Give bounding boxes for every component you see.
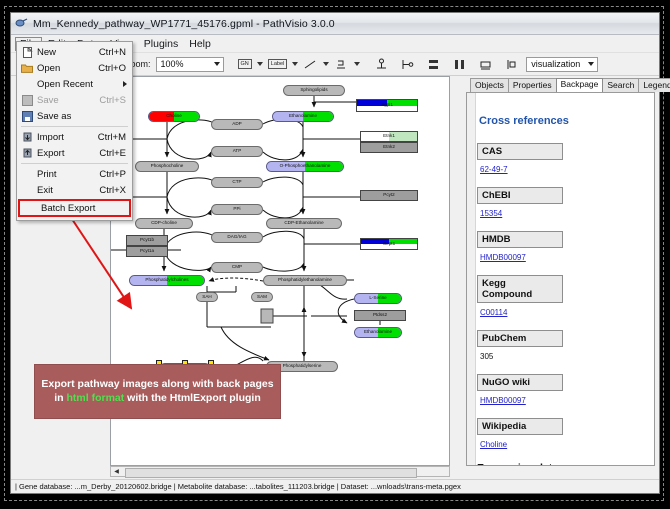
menu-item-accelerator: Ctrl+X xyxy=(99,185,132,196)
backpage-scroll-gutter[interactable] xyxy=(467,93,476,465)
xref-value[interactable]: HMDB00097 xyxy=(480,253,650,262)
node-label: Pcyt2 xyxy=(383,193,395,198)
chevron-down-icon[interactable] xyxy=(354,62,360,66)
file-menu-item-import[interactable]: ImportCtrl+M xyxy=(17,129,132,145)
gene-node-pcyt1b[interactable]: Pcyt1b xyxy=(126,235,168,246)
node-label: ADP xyxy=(232,122,241,127)
xref-value: 305 xyxy=(480,352,650,361)
menu-item-label: New xyxy=(37,47,99,58)
node-label: SAH xyxy=(202,295,211,300)
menu-help[interactable]: Help xyxy=(184,37,216,51)
node-label: L-Serine xyxy=(369,296,386,301)
import-icon xyxy=(17,132,37,143)
xref-database-name: Wikipedia xyxy=(477,418,563,435)
chevron-down-icon[interactable] xyxy=(323,62,329,66)
metabolite-node-adp[interactable]: ADP xyxy=(211,119,263,130)
backpage-panel[interactable]: Cross references CAS62-49-7ChEBI15354HMD… xyxy=(466,92,655,466)
menu-item-label: Print xyxy=(37,169,99,180)
menu-plugins[interactable]: Plugins xyxy=(139,37,183,51)
xref-database-name: HMDB xyxy=(477,231,563,248)
chevron-down-icon xyxy=(214,62,220,66)
file-menu-item-save-as[interactable]: Save as xyxy=(17,108,132,124)
metabolite-node-choline[interactable]: Choline xyxy=(148,111,200,122)
distribute-horizontal-icon[interactable] xyxy=(452,57,467,72)
tab-objects[interactable]: Objects xyxy=(470,78,509,92)
xref-link[interactable]: C00114 xyxy=(480,308,507,317)
menu-item-label: Open Recent xyxy=(37,79,126,90)
menu-item-accelerator: Ctrl+N xyxy=(99,47,132,58)
menu-item-label: Exit xyxy=(37,185,99,196)
node-label: Ethanolamine xyxy=(364,330,392,335)
pathvisio-window: Mm_Kennedy_pathway_WP1771_45176.gpml - P… xyxy=(10,12,660,494)
title-bar: Mm_Kennedy_pathway_WP1771_45176.gpml - P… xyxy=(11,13,659,35)
chevron-down-icon xyxy=(588,62,594,66)
window-title: Mm_Kennedy_pathway_WP1771_45176.gpml - P… xyxy=(33,18,335,30)
menu-separator xyxy=(21,163,128,164)
metabolite-node-sah[interactable]: SAH xyxy=(196,292,218,302)
submenu-arrow-icon xyxy=(123,81,127,87)
metabolite-node-sphingolipids[interactable]: Sphingolipids xyxy=(283,85,345,96)
callout-highlight: html format xyxy=(67,392,125,404)
node-label: Choline xyxy=(166,114,182,119)
expression-data-title: Expression data xyxy=(477,462,650,466)
tab-backpage[interactable]: Backpage xyxy=(556,78,604,92)
node-label: Phosphatidylserine xyxy=(283,364,322,369)
node-label: Ethanolamine xyxy=(289,114,317,119)
file-menu-dropdown[interactable]: NewCtrl+NOpenCtrl+OOpen RecentSaveCtrl+S… xyxy=(16,41,133,221)
gene-node-pcyt1a[interactable]: Pcyt1a xyxy=(126,246,168,257)
menu-item-accelerator: Ctrl+E xyxy=(99,148,132,159)
chevron-down-icon[interactable] xyxy=(257,62,263,66)
cross-reference-list: CAS62-49-7ChEBI15354HMDBHMDB00097Kegg Co… xyxy=(477,143,650,449)
status-text: | Gene database: ...m_Derby_20120602.bri… xyxy=(15,482,461,491)
visualization-combo[interactable]: visualization xyxy=(526,57,598,72)
tab-properties[interactable]: Properties xyxy=(508,78,557,92)
screenshot-root: Mm_Kennedy_pathway_WP1771_45176.gpml - P… xyxy=(0,0,670,509)
file-menu-item-open-recent[interactable]: Open Recent xyxy=(17,76,132,92)
metabolite-node-ctp[interactable]: CTP xyxy=(211,177,263,188)
xref-database-name: CAS xyxy=(477,143,563,160)
new-document-icon xyxy=(17,47,37,58)
file-menu-item-batch-export[interactable]: Batch Export xyxy=(18,199,131,217)
hscroll-thumb[interactable] xyxy=(125,468,417,478)
pathvisio-app-icon xyxy=(15,17,28,30)
status-bar: | Gene database: ...m_Derby_20120602.bri… xyxy=(11,479,659,493)
distribute-vertical-icon[interactable] xyxy=(426,57,441,72)
file-menu-item-export[interactable]: ExportCtrl+E xyxy=(17,145,132,161)
node-label: PPi xyxy=(233,207,240,212)
canvas-hscrollbar[interactable]: ◀ xyxy=(110,466,450,477)
node-label: CDP-Ethanolamine xyxy=(284,221,323,226)
menu-separator xyxy=(21,126,128,127)
chevron-down-icon[interactable] xyxy=(292,62,298,66)
gene-node-sgpl1[interactable]: Sgpl1 xyxy=(356,99,418,112)
tab-legend[interactable]: Legend xyxy=(638,78,670,92)
file-menu-item-print[interactable]: PrintCtrl+P xyxy=(17,166,132,182)
node-label: O-Phosphoethanolamine xyxy=(280,164,331,169)
node-label: Etnk1 xyxy=(383,134,395,139)
xref-link[interactable]: 15354 xyxy=(480,209,502,218)
node-label: ATP xyxy=(233,149,242,154)
gene-node-cept1[interactable]: Cept1 xyxy=(360,238,418,250)
visualization-value: visualization xyxy=(531,59,580,69)
metabolite-node-ethanolamine[interactable]: Ethanolamine xyxy=(354,327,402,338)
metabolite-node-atp[interactable]: ATP xyxy=(211,146,263,157)
gene-node-pcyt2[interactable]: Pcyt2 xyxy=(360,190,418,201)
gene-node-ptdss2[interactable]: Ptdss2 xyxy=(354,310,406,321)
xref-database-name: NuGO wiki xyxy=(477,374,563,391)
menu-item-label: Import xyxy=(37,132,98,143)
menu-item-accelerator: Ctrl+M xyxy=(98,132,132,143)
menu-item-accelerator: Ctrl+S xyxy=(99,95,132,106)
order-icon[interactable] xyxy=(504,57,519,72)
xref-value[interactable]: HMDB00097 xyxy=(480,396,650,405)
node-label: Phosphatidylcholines xyxy=(145,278,188,283)
metabolite-node-o-phosphoethanolamine[interactable]: O-Phosphoethanolamine xyxy=(266,161,344,172)
menu-item-label: Save as xyxy=(37,111,126,122)
node-label: CDP-choline xyxy=(151,221,177,226)
file-menu-item-new[interactable]: NewCtrl+N xyxy=(17,44,132,60)
side-panel-tabs: Objects Properties Backpage Search Legen… xyxy=(456,76,659,92)
interaction-icon[interactable] xyxy=(334,57,349,72)
line-icon[interactable] xyxy=(303,57,318,72)
save-disk-icon xyxy=(17,95,37,106)
gene-node-etnk1[interactable]: Etnk1 xyxy=(360,131,418,142)
xref-value[interactable]: Choline xyxy=(480,440,650,449)
callout-text: Export pathway images along with back pa… xyxy=(41,378,274,404)
menu-item-label: Open xyxy=(37,63,98,74)
align-left-icon[interactable] xyxy=(400,57,415,72)
group-icon[interactable] xyxy=(478,57,493,72)
metabolite-node-cmp[interactable]: CMP xyxy=(211,262,263,273)
metabolite-node-ppi[interactable]: PPi xyxy=(211,204,263,215)
datanode-icon[interactable]: GN xyxy=(238,59,252,69)
node-label: DAG/IAG xyxy=(227,235,246,240)
align-top-icon[interactable] xyxy=(374,57,389,72)
callout-text-part2: with the HtmlExport plugin xyxy=(124,392,261,404)
node-label: Phosphocholine xyxy=(151,164,184,169)
cross-references-title: Cross references xyxy=(479,115,650,127)
tab-search[interactable]: Search xyxy=(602,78,639,92)
xref-database-name: Kegg Compound xyxy=(477,275,563,303)
xref-database-name: PubChem xyxy=(477,330,563,347)
side-panel: Objects Properties Backpage Search Legen… xyxy=(456,76,659,466)
xref-link[interactable]: Choline xyxy=(480,440,507,449)
menu-item-label: Batch Export xyxy=(40,203,123,214)
save-as-icon xyxy=(17,111,37,122)
export-icon xyxy=(17,148,37,159)
label-icon[interactable]: Label xyxy=(268,59,287,69)
xref-value[interactable]: C00114 xyxy=(480,308,650,317)
metabolite-node-cdp-ethanolamine[interactable]: CDP-Ethanolamine xyxy=(266,218,342,229)
node-label: CTP xyxy=(232,180,241,185)
file-menu-item-save: SaveCtrl+S xyxy=(17,92,132,108)
node-label: Cept1 xyxy=(383,242,395,247)
menu-item-label: Save xyxy=(37,95,99,106)
node-label: Etnk2 xyxy=(383,145,395,150)
node-label: Pcyt1a xyxy=(140,249,154,254)
file-menu-item-open[interactable]: OpenCtrl+O xyxy=(17,60,132,76)
node-label: SAM xyxy=(257,295,267,300)
node-label: Sphingolipids xyxy=(300,88,327,93)
node-label: Sgpl1 xyxy=(381,103,393,108)
metabolite-node-phosphatidylcholines[interactable]: Phosphatidylcholines xyxy=(129,275,205,286)
scroll-left-icon[interactable]: ◀ xyxy=(111,467,122,476)
metabolite-node-l-serine[interactable]: L-Serine xyxy=(354,293,402,304)
xref-link[interactable]: HMDB00097 xyxy=(480,396,526,405)
xref-value[interactable]: 15354 xyxy=(480,209,650,218)
file-menu-item-exit[interactable]: ExitCtrl+X xyxy=(17,182,132,198)
menu-item-accelerator: Ctrl+O xyxy=(98,63,132,74)
xref-database-name: ChEBI xyxy=(477,187,563,204)
menu-item-label: Export xyxy=(37,148,99,159)
metabolite-node-phosphatidylethanolamine[interactable]: Phosphatidylethanolamine xyxy=(263,275,347,286)
open-folder-icon xyxy=(17,63,37,73)
xref-value[interactable]: 62-49-7 xyxy=(480,165,650,174)
metabolite-node-dag-iag[interactable]: DAG/IAG xyxy=(211,232,263,243)
xref-link[interactable]: 62-49-7 xyxy=(480,165,508,174)
backpage-content: Cross references CAS62-49-7ChEBI15354HMD… xyxy=(477,101,650,466)
annotation-callout: Export pathway images along with back pa… xyxy=(34,364,281,419)
metabolite-node-phosphocholine[interactable]: Phosphocholine xyxy=(135,161,199,172)
gene-node-etnk2[interactable]: Etnk2 xyxy=(360,142,418,153)
node-label: Ptdss2 xyxy=(373,313,387,318)
metabolite-node-sam[interactable]: SAM xyxy=(251,292,273,302)
metabolite-node-ethanolamine[interactable]: Ethanolamine xyxy=(272,111,334,122)
xref-link[interactable]: HMDB00097 xyxy=(480,253,526,262)
node-label: CMP xyxy=(232,265,242,270)
metabolite-node-cdp-choline[interactable]: CDP-choline xyxy=(135,218,193,229)
zoom-value: 100% xyxy=(161,59,184,69)
node-label: Phosphatidylethanolamine xyxy=(278,278,332,283)
zoom-combo[interactable]: 100% xyxy=(156,57,224,72)
menu-item-accelerator: Ctrl+P xyxy=(99,169,132,180)
node-label: Pcyt1b xyxy=(140,238,154,243)
